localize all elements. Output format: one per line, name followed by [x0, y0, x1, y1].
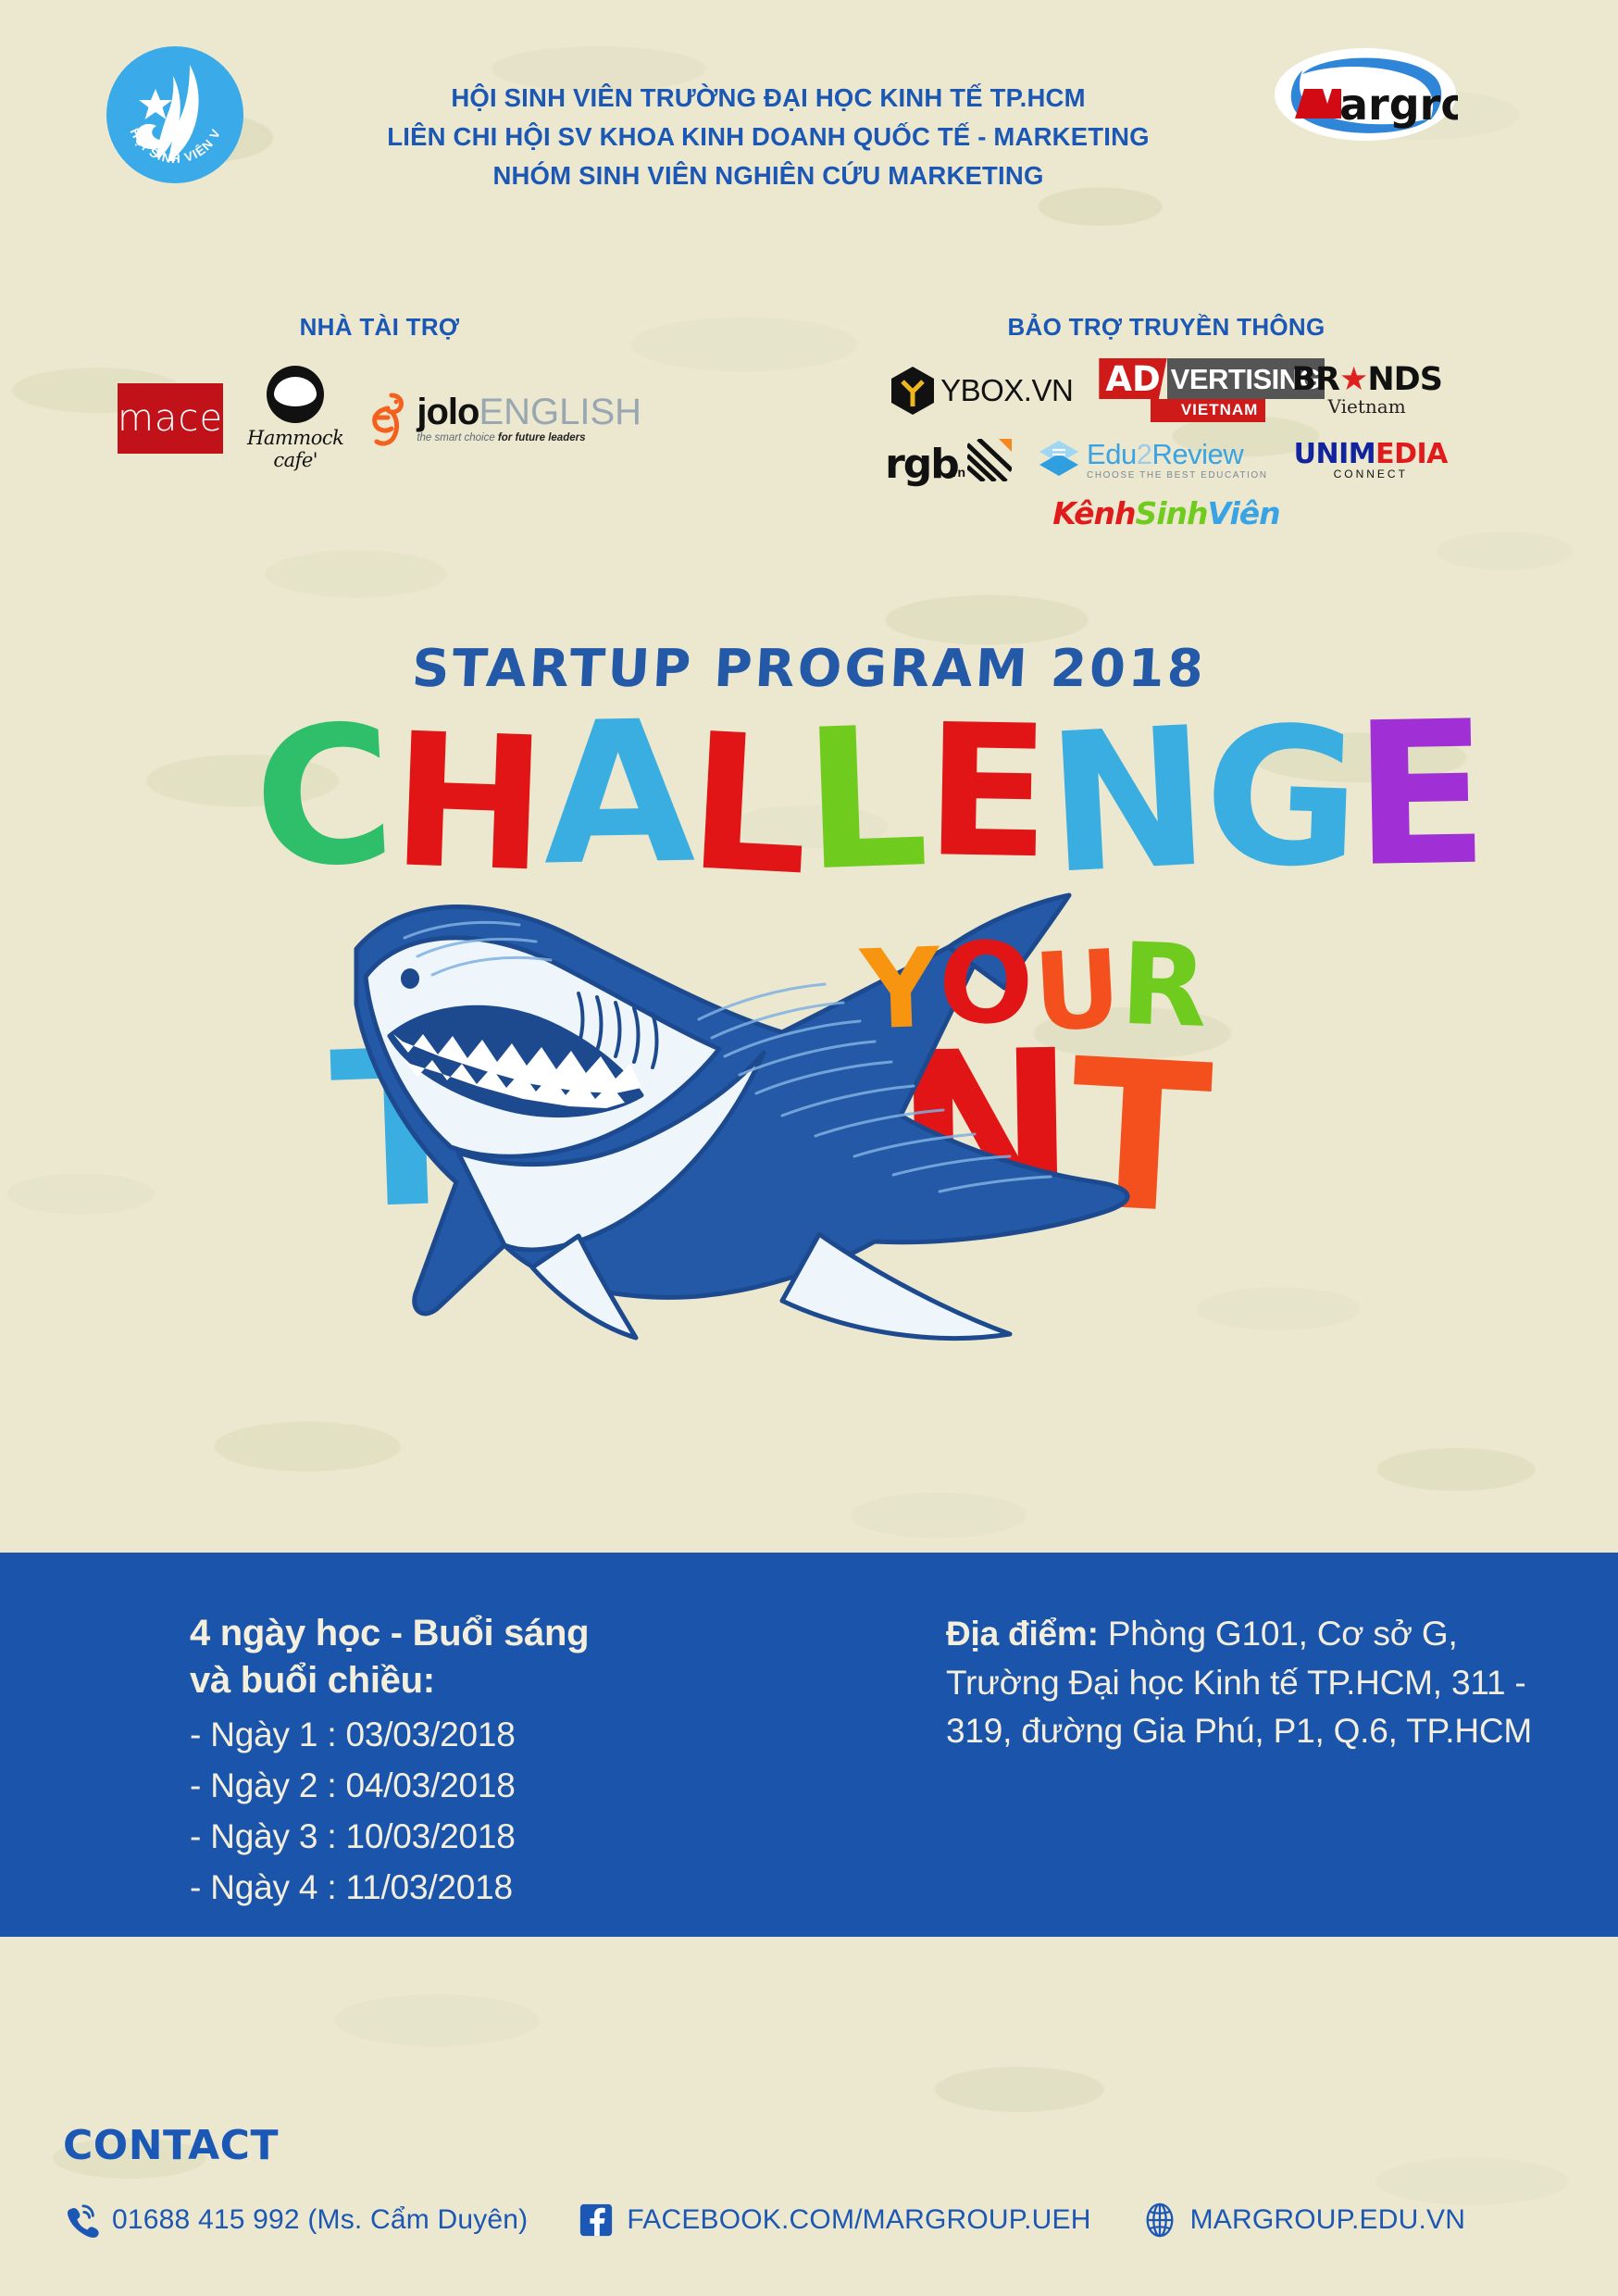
mace-wordmark: mace: [118, 400, 223, 437]
jolo-word: jolo: [417, 392, 479, 432]
facebook-icon: [578, 2202, 615, 2239]
media-logo-ybox: YBOX.VN: [890, 366, 1073, 416]
rgb-stripes-icon: [967, 439, 1012, 481]
advertising-main-row: AD VERTISING: [1099, 358, 1265, 399]
media-logo-advertising-vietnam: AD VERTISING VIETNAM: [1099, 358, 1265, 422]
hoi-sinh-vien-viet-nam-logo: HỘI SINH VIÊN VIỆT NAM: [105, 44, 245, 185]
advertising-ad-mark: AD: [1099, 358, 1166, 399]
sponsor-logo-jolo-english: joloENGLISH the smart choice for future …: [367, 390, 641, 447]
brands-wordmark: BR★NDS: [1291, 364, 1442, 396]
ksv-kenh: Kênh: [1052, 495, 1135, 531]
margroup-wordmark: argroup: [1339, 80, 1458, 130]
schedule-block: 4 ngày học - Buổi sáng và buổi chiều: - …: [190, 1610, 764, 1913]
info-band: 4 ngày học - Buổi sáng và buổi chiều: - …: [0, 1553, 1618, 1937]
edu2review-wordmark: Edu2Review: [1087, 440, 1268, 468]
contact-website-text: MARGROUP.EDU.VN: [1190, 2204, 1466, 2236]
brands-right: NDS: [1367, 361, 1442, 398]
organization-title-block: HỘI SINH VIÊN TRƯỜNG ĐẠI HỌC KINH TẾ TP.…: [278, 79, 1259, 194]
media-logo-row-2: rgb .vn: [824, 439, 1509, 481]
brands-left: BR: [1291, 361, 1339, 398]
unimedia-e-mark: E: [1375, 438, 1394, 470]
media-logo-edu2review: Edu2Review CHOOSE THE BEST EDUCATION: [1038, 439, 1268, 481]
edu2review-text-block: Edu2Review CHOOSE THE BEST EDUCATION: [1087, 440, 1268, 480]
hero-letter: G: [1201, 701, 1359, 896]
edu2review-review: Review: [1151, 438, 1243, 470]
schedule-date-item: - Ngày 2 : 04/03/2018: [190, 1761, 764, 1812]
jolo-bird-icon: [367, 390, 410, 447]
schedule-date-item: - Ngày 4 : 11/03/2018: [190, 1863, 764, 1914]
brands-vietnam-sub: Vietnam: [1291, 395, 1442, 418]
contact-facebook[interactable]: FACEBOOK.COM/MARGROUP.UEH: [578, 2202, 1090, 2239]
jolo-tagline: the smart choice for future leaders: [417, 433, 641, 444]
advertising-vietnam-sub: VIETNAM: [1151, 399, 1265, 422]
contact-facebook-text: FACEBOOK.COM/MARGROUP.UEH: [627, 2204, 1090, 2236]
unimedia-right: DIA: [1394, 438, 1448, 470]
ksv-s: S: [1135, 495, 1156, 531]
unimedia-left: UNIM: [1294, 438, 1375, 470]
contact-phone-text: 01688 415 992 (Ms. Cẩm Duyên): [112, 2204, 528, 2236]
hero-letter: E: [1351, 696, 1486, 896]
hammock-tree-icon: [267, 366, 324, 423]
hero-letter: O: [936, 925, 1036, 1042]
venue-label: Địa điểm:: [946, 1615, 1099, 1653]
schedule-date-item: - Ngày 1 : 03/03/2018: [190, 1710, 764, 1761]
contact-title: CONTACT: [63, 2122, 279, 2169]
media-logo-row-1: YBOX.VN AD VERTISING VIETNAM BR★NDS Viet…: [824, 358, 1509, 422]
ybox-hexagon-icon: [890, 366, 935, 416]
margroup-logo: argroup: [1273, 46, 1458, 143]
media-logo-unimedia-connect: UNIMEDIA CONNECT: [1294, 441, 1448, 480]
rgb-vn-suffix: .vn: [947, 465, 965, 480]
jolo-tagline-plain: the smart choice: [417, 432, 498, 443]
edu2review-edu: Edu: [1087, 438, 1137, 470]
contact-website[interactable]: MARGROUP.EDU.VN: [1141, 2202, 1466, 2239]
edu2review-two: 2: [1137, 438, 1152, 470]
hero-letter: U: [1031, 935, 1124, 1046]
ksv-vien: Viên: [1208, 495, 1280, 531]
media-logo-row-3: KênhSinhViên: [824, 498, 1509, 529]
poster-canvas: HỘI SINH VIÊN VIỆT NAM HỘI SINH VIÊN TRƯ…: [0, 0, 1618, 2296]
sponsor-logo-list: mace Hammock cafe': [120, 366, 639, 471]
ksv-inh: inh: [1156, 495, 1207, 531]
media-logo-rgb-vn: rgb .vn: [885, 439, 1012, 481]
venue-block: Địa điểm: Phòng G101, Cơ sở G, Trường Đạ…: [946, 1610, 1538, 1756]
org-line-1: HỘI SINH VIÊN TRƯỜNG ĐẠI HỌC KINH TẾ TP.…: [278, 79, 1259, 118]
schedule-date-item: - Ngày 3 : 10/03/2018: [190, 1812, 764, 1863]
edu2review-tagline: CHOOSE THE BEST EDUCATION: [1087, 471, 1268, 480]
shark-illustration: [301, 838, 1208, 1412]
schedule-date-list: - Ngày 1 : 03/03/2018 - Ngày 2 : 04/03/2…: [190, 1710, 764, 1913]
ybox-wordmark: YBOX.VN: [940, 373, 1073, 408]
contact-list: 01688 415 992 (Ms. Cẩm Duyên) FACEBOOK.C…: [63, 2202, 1581, 2239]
globe-icon: [1141, 2202, 1178, 2239]
edu2review-book-icon: [1038, 439, 1080, 481]
jolo-tagline-bold: for future leaders: [498, 432, 586, 443]
sponsor-logo-hammock-cafe: Hammock cafe': [247, 366, 343, 471]
schedule-heading-line1: 4 ngày học - Buổi sáng: [190, 1610, 764, 1657]
jolo-wordmark-block: joloENGLISH the smart choice for future …: [417, 393, 641, 444]
sponsors-title: NHÀ TÀI TRỢ: [120, 313, 639, 342]
media-partners-section: BẢO TRỢ TRUYỀN THÔNG YBOX.VN AD VERTISIN…: [824, 313, 1509, 529]
sponsors-section: NHÀ TÀI TRỢ mace Hammock cafe': [120, 313, 639, 471]
media-logo-kenh-sinh-vien: KênhSinhViên: [1052, 498, 1279, 529]
schedule-heading-line2: và buổi chiều:: [190, 1657, 764, 1704]
footer: CONTACT 01688 415 992 (Ms. Cẩm Duyên): [0, 2111, 1618, 2296]
jolo-english-word: ENGLISH: [479, 392, 641, 432]
brands-star-icon: ★: [1339, 361, 1367, 398]
jolo-wordmark: joloENGLISH: [417, 393, 641, 430]
media-partners-title: BẢO TRỢ TRUYỀN THÔNG: [824, 313, 1509, 342]
contact-phone[interactable]: 01688 415 992 (Ms. Cẩm Duyên): [63, 2202, 528, 2239]
phone-icon: [63, 2202, 100, 2239]
hero-word-your: YOUR: [861, 930, 1205, 1040]
hero-section: STARTUP PROGRAM 2018 CHALLENGE: [0, 639, 1618, 1555]
hammock-wordmark: Hammock cafe': [247, 427, 343, 471]
header: HỘI SINH VIÊN VIỆT NAM HỘI SINH VIÊN TRƯ…: [0, 0, 1618, 213]
sponsor-logo-mace: mace: [118, 383, 223, 454]
unimedia-wordmark: UNIMEDIA: [1294, 441, 1448, 468]
hero-letter: R: [1118, 928, 1209, 1043]
org-line-2: LIÊN CHI HỘI SV KHOA KINH DOANH QUỐC TẾ …: [278, 118, 1259, 156]
org-line-3: NHÓM SINH VIÊN NGHIÊN CỨU MARKETING: [278, 156, 1259, 195]
media-logo-brands-vietnam: BR★NDS Vietnam: [1291, 364, 1442, 418]
hero-letter: Y: [859, 933, 942, 1045]
